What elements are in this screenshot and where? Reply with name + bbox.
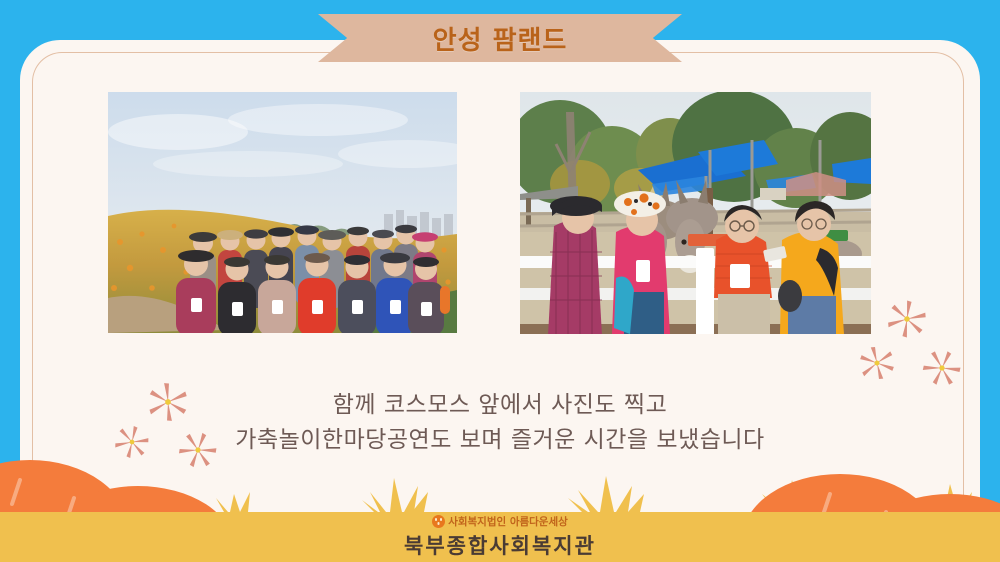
group-photo-cosmos-field-image: [108, 92, 457, 333]
page-title: 안성 팜랜드: [318, 14, 682, 62]
circle-dots-icon: [432, 515, 445, 528]
organization-subtitle: 사회복지법인 아름다운세상: [448, 514, 568, 529]
footer-content: 사회복지법인 아름다운세상 북부종합사회복지관: [0, 512, 1000, 562]
slide-canvas: 안성 팜랜드: [0, 0, 1000, 562]
farm-animal-show-photo: [520, 92, 871, 334]
organization-name: 북부종합사회복지관: [404, 530, 596, 560]
farm-animal-show-photo-image: [520, 92, 871, 334]
title-banner: 안성 팜랜드: [318, 14, 682, 62]
group-photo-cosmos-field: [108, 92, 457, 333]
flower-icon: [142, 376, 195, 429]
organization-line: 사회복지법인 아름다운세상: [432, 514, 568, 529]
